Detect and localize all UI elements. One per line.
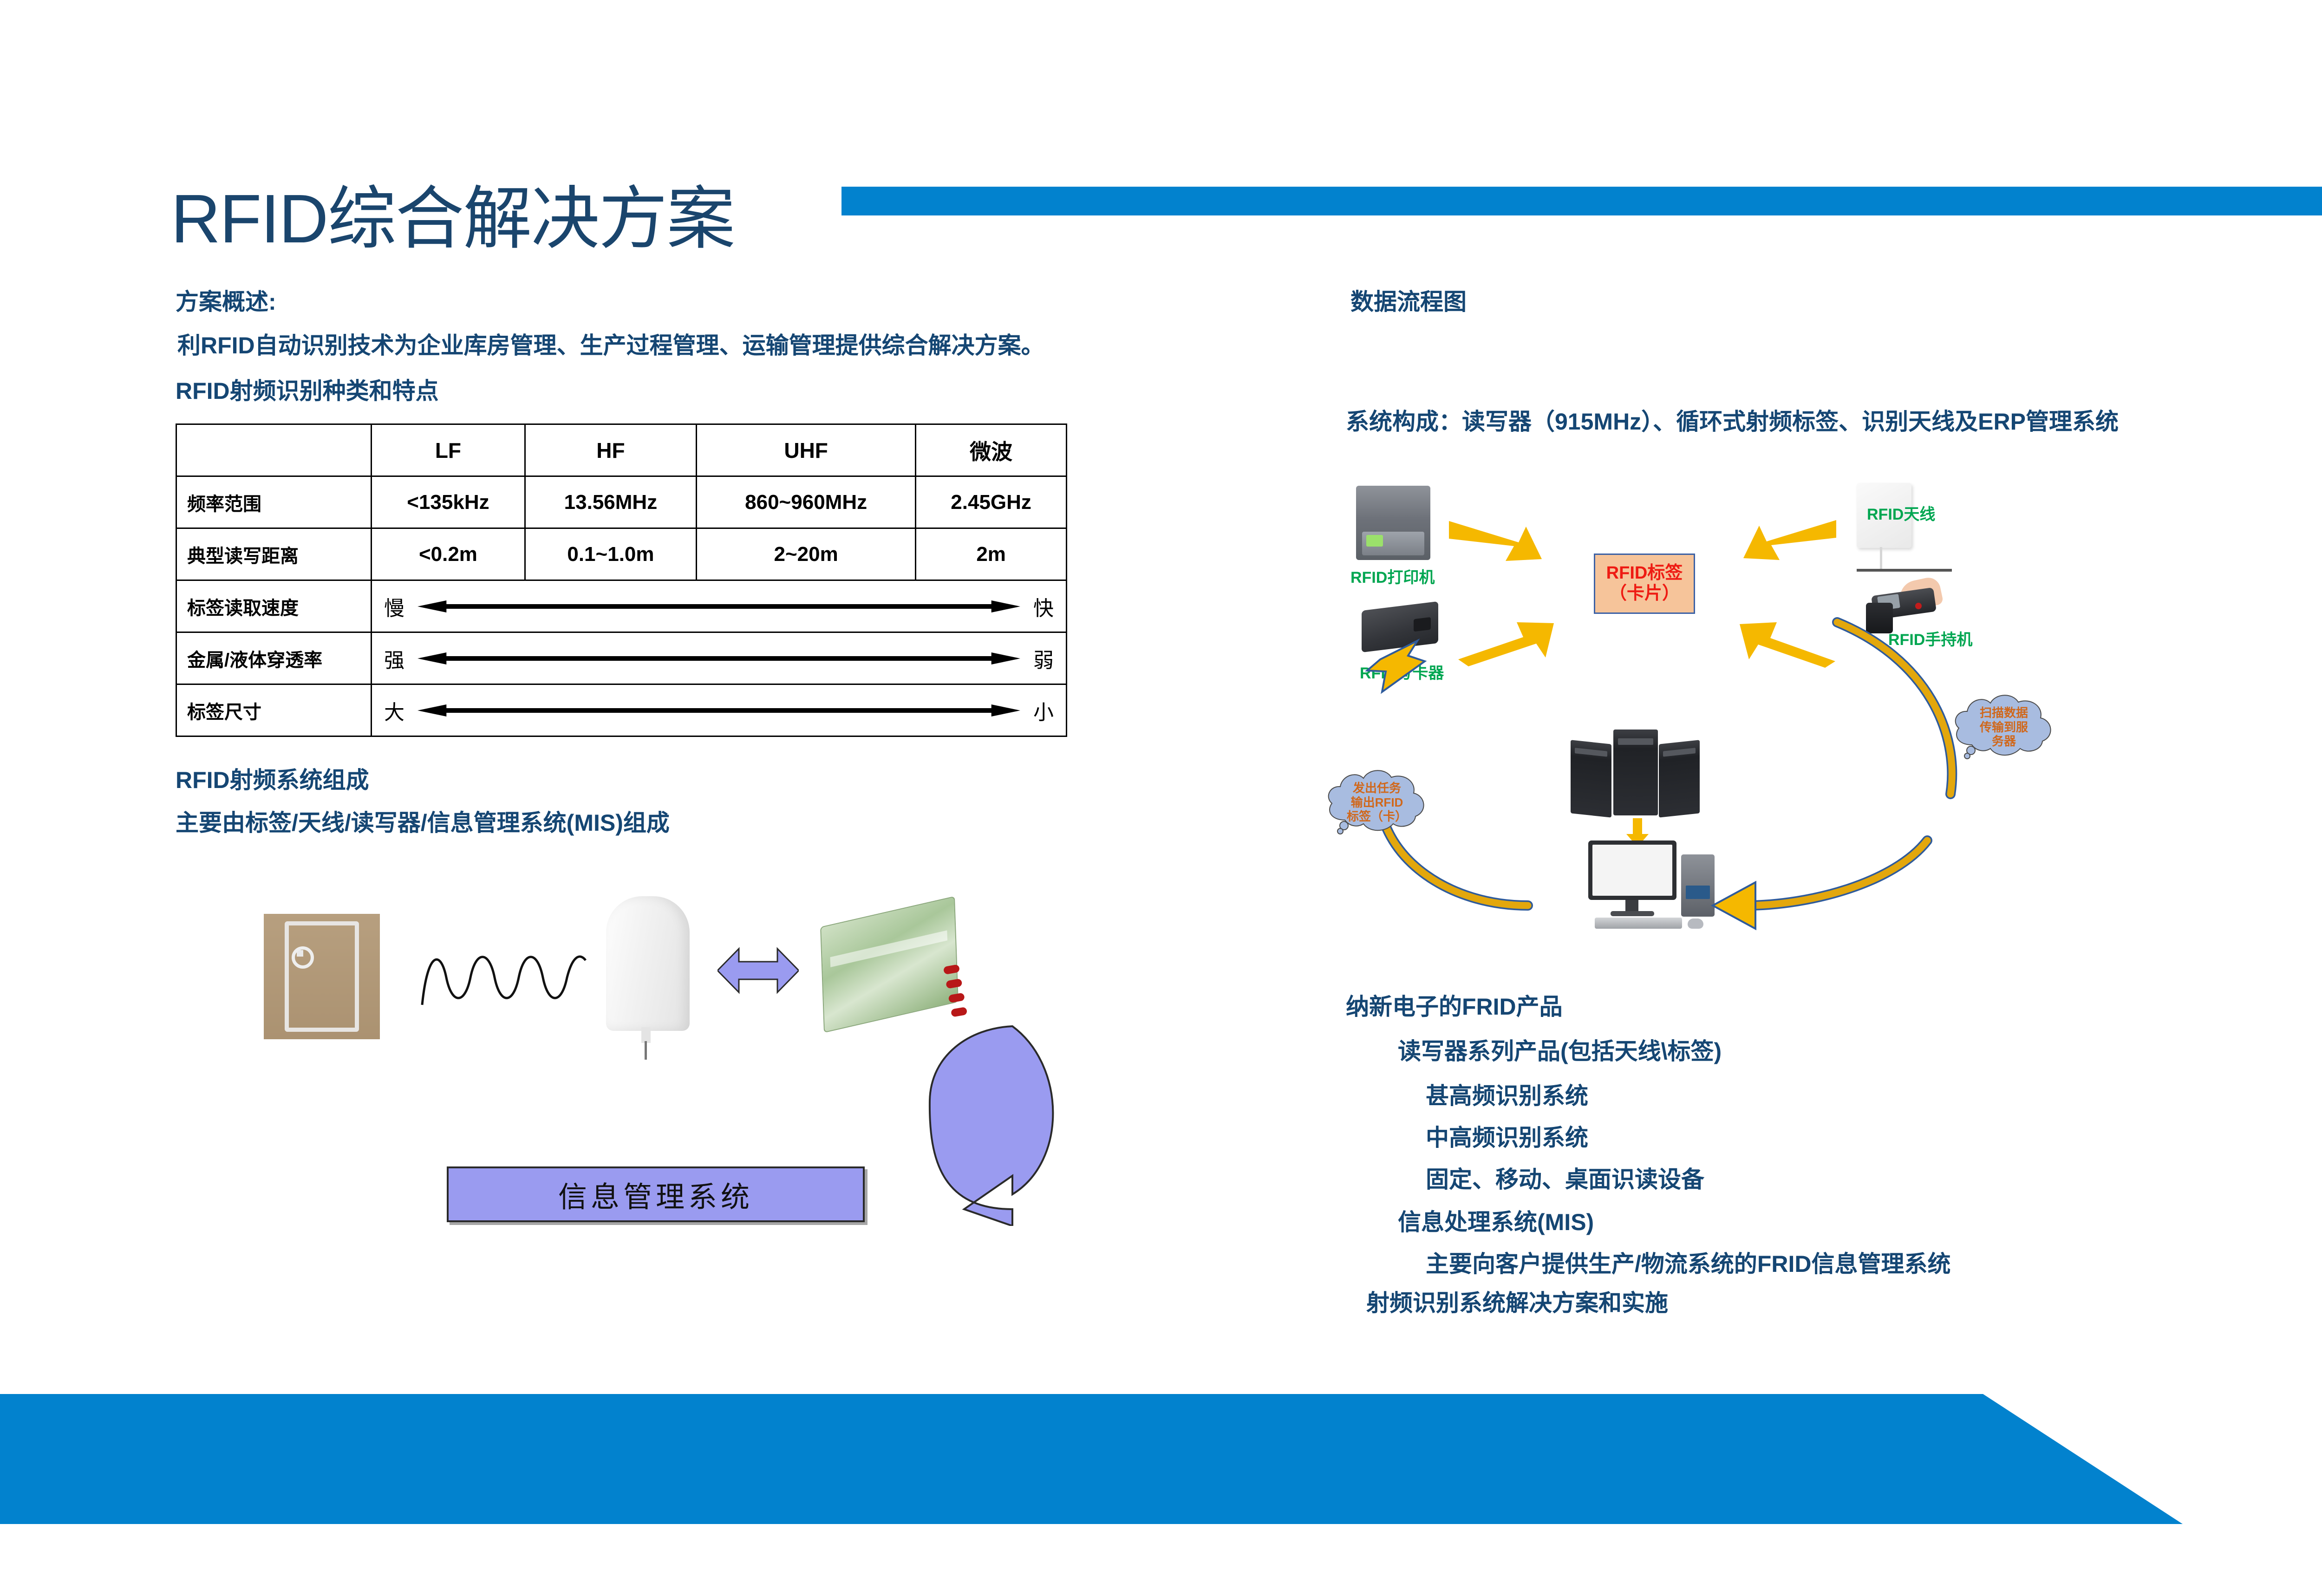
gradient-arrow-penetration: 强 弱 [372, 632, 1067, 684]
table-row: 金属/液体穿透率 强 弱 [176, 632, 1067, 684]
table-corner-cell [176, 424, 372, 476]
row-label-penetration: 金属/液体穿透率 [176, 632, 372, 684]
row-label-read-speed: 标签读取速度 [176, 580, 372, 632]
cloud-left-line2: 输出RFID [1324, 795, 1430, 810]
overview-text: 利RFID自动识别技术为企业库房管理、生产过程管理、运输管理提供综合解决方案。 [177, 332, 1044, 359]
table-row: 标签读取速度 慢 快 [176, 580, 1067, 632]
reader-antenna-ports [943, 964, 970, 1017]
cloud-right-text: 扫描数据 传输到服 务器 [1950, 690, 2057, 749]
row-label-read-distance: 典型读写距离 [176, 528, 372, 580]
cell-distance-hf: 0.1~1.0m [525, 528, 696, 580]
table-col-microwave: 微波 [916, 424, 1067, 476]
gradient-arrow-tag-size: 大 小 [372, 684, 1067, 736]
cloud-left-line3: 标签（卡） [1324, 809, 1430, 824]
rfid-panel-antenna [606, 896, 690, 1031]
cell-distance-lf: <0.2m [372, 528, 525, 580]
reader-to-mis-curved-arrow [873, 1022, 1068, 1226]
system-heading: RFID射频系统组成 [176, 766, 369, 794]
cloud-left-line1: 发出任务 [1324, 781, 1430, 795]
arrow-left-label-read-speed: 慢 [384, 592, 404, 621]
tag-logo-icon [292, 946, 314, 969]
overview-label: 方案概述: [176, 288, 276, 316]
cell-frequency-hf: 13.56MHz [525, 476, 696, 528]
table-col-uhf: UHF [697, 424, 916, 476]
row-label-tag-size: 标签尺寸 [176, 684, 372, 736]
table-header-row: LF HF UHF 微波 [176, 424, 1067, 476]
cloud-right-line2: 传输到服 [1950, 720, 2057, 735]
product-list-item-5: 信息处理系统(MIS) [1398, 1204, 1594, 1237]
cloud-callout-right: 扫描数据 传输到服 务器 [1950, 690, 2057, 749]
arrow-shaft [417, 600, 1020, 612]
tag-antenna-coil [285, 921, 359, 1032]
server-center [1613, 730, 1658, 815]
table-row: 频率范围 <135kHz 13.56MHz 860~960MHz 2.45GHz [176, 476, 1067, 528]
bidirectional-arrow-icon [717, 945, 799, 996]
page-title: RFID综合解决方案 [171, 185, 734, 254]
data-flow-diagram: RFID打印机 RFID写卡器 RFID标签 （卡片） RFID天线 [1310, 474, 2173, 957]
product-list-item-6: 主要向客户提供生产/物流系统的FRID信息管理系统 [1426, 1245, 1951, 1279]
table-row: 典型读写距离 <0.2m 0.1~1.0m 2~20m 2m [176, 528, 1067, 580]
mis-box: 信息管理系统 [447, 1166, 865, 1222]
table-row: 标签尺寸 大 小 [176, 684, 1067, 736]
product-list-item-1: 读写器系列产品(包括天线\标签) [1398, 1033, 1722, 1066]
table-col-lf: LF [372, 424, 525, 476]
flow-heading: 数据流程图 [1350, 288, 1467, 316]
product-list-item-2: 甚高频识别系统 [1426, 1077, 1588, 1111]
rfid-reader-device [820, 896, 959, 1033]
cloud-callout-left: 发出任务 输出RFID 标签（卡） [1324, 765, 1430, 824]
slide-canvas: RFID综合解决方案 方案概述: 利RFID自动识别技术为企业库房管理、生产过程… [0, 0, 2322, 1596]
arrow-shaft [417, 704, 1020, 717]
rf-wave-icon [420, 947, 587, 1008]
arrow-left-label-tag-size: 大 [384, 696, 404, 725]
system-composition-text: 系统构成：读写器（915MHz）、循环式射频标签、识别天线及ERP管理系统 [1346, 408, 2119, 436]
antenna-cable [645, 1041, 647, 1060]
mis-box-label: 信息管理系统 [558, 1173, 753, 1215]
product-list-item-0: 纳新电子的FRID产品 [1346, 988, 1563, 1022]
cloud-right-line3: 务器 [1950, 734, 2057, 749]
cloud-left-text: 发出任务 输出RFID 标签（卡） [1324, 765, 1430, 824]
arrow-right-label-penetration: 弱 [1033, 644, 1054, 673]
cloud-right-line1: 扫描数据 [1950, 706, 2057, 720]
cell-frequency-uhf: 860~960MHz [697, 476, 916, 528]
row-label-frequency: 频率范围 [176, 476, 372, 528]
arrow-right-label-tag-size: 小 [1033, 696, 1054, 725]
rfid-tag-photo [264, 914, 380, 1039]
product-list-item-3: 中高频识别系统 [1426, 1119, 1588, 1153]
rfid-spec-table: LF HF UHF 微波 频率范围 <135kHz 13.56MHz 860~9… [176, 423, 1067, 737]
cell-distance-microwave: 2m [916, 528, 1067, 580]
arrow-shaft [417, 652, 1020, 664]
antenna-connector [641, 1027, 651, 1043]
arrow-right-label-read-speed: 快 [1033, 592, 1054, 621]
top-accent-bar [841, 187, 2322, 215]
product-list-item-7: 射频识别系统解决方案和实施 [1366, 1284, 1668, 1318]
cell-frequency-lf: <135kHz [372, 476, 525, 528]
system-text: 主要由标签/天线/读写器/信息管理系统(MIS)组成 [176, 809, 670, 837]
bottom-accent-shape [0, 1394, 2322, 1524]
cell-frequency-microwave: 2.45GHz [916, 476, 1067, 528]
product-list-item-4: 固定、移动、桌面识读设备 [1426, 1161, 1704, 1194]
arrow-left-label-penetration: 强 [384, 644, 404, 673]
table-col-hf: HF [525, 424, 696, 476]
cell-distance-uhf: 2~20m [697, 528, 916, 580]
gradient-arrow-read-speed: 慢 快 [372, 580, 1067, 632]
types-heading: RFID射频识别种类和特点 [176, 377, 439, 405]
